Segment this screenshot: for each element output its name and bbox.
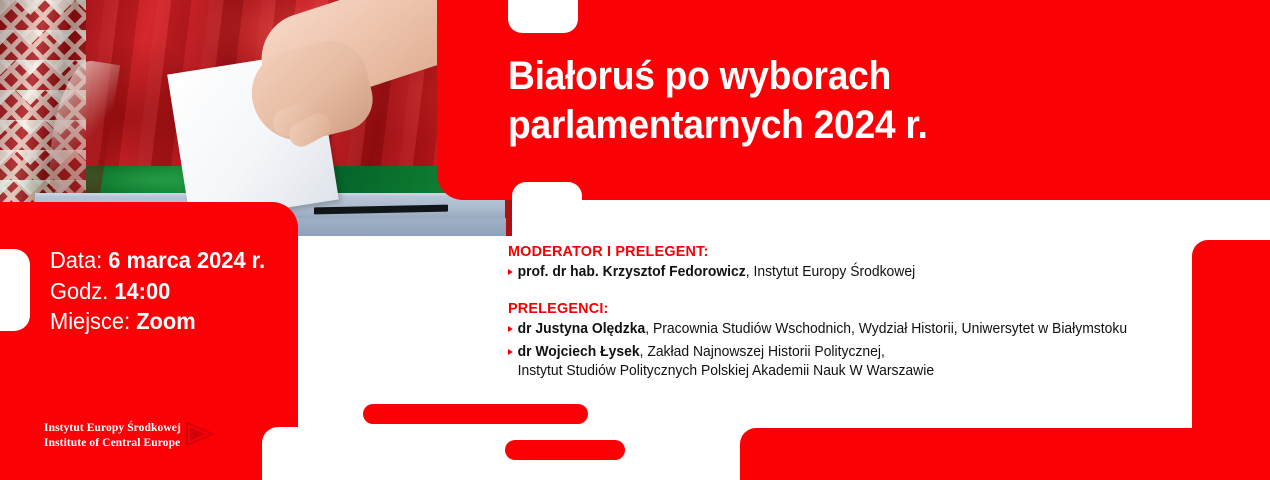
list-item: dr Wojciech Łysek, Zakład Najnowszej His… (508, 343, 1180, 382)
person-affiliation-line-2: Instytut Studiów Politycznych Polskiej A… (518, 363, 934, 379)
person-entry: dr Wojciech Łysek, Zakład Najnowszej His… (518, 343, 934, 382)
event-place-label: Miejsce: (50, 308, 130, 334)
decor-pill-bar-upper (363, 404, 588, 424)
institute-logo-text: Instytut Europy Środkowej Institute of C… (44, 421, 181, 449)
event-title-line-2: parlamentarnych 2024 r. (508, 101, 1159, 150)
decor-block-right (1192, 240, 1270, 440)
title-panel-notch-top (508, 0, 578, 33)
person-name: prof. dr hab. Krzysztof Fedorowicz (518, 264, 746, 280)
speakers-block: MODERATOR I PRELEGENT: prof. dr hab. Krz… (508, 243, 1180, 384)
event-details: Data: 6 marca 2024 r. Godz. 14:00 Miejsc… (50, 245, 265, 337)
event-time-row: Godz. 14:00 (50, 276, 265, 307)
triangle-play-mark-icon (186, 422, 214, 451)
triangle-bullet-icon (508, 326, 513, 332)
person-affiliation: , Pracownia Studiów Wschodnich, Wydział … (645, 321, 1127, 337)
event-date-value: 6 marca 2024 r. (108, 247, 265, 273)
person-entry: dr Justyna Olędzka, Pracownia Studiów Ws… (518, 320, 1127, 339)
list-item: prof. dr hab. Krzysztof Fedorowicz, Inst… (508, 263, 1180, 282)
institute-logo: Instytut Europy Środkowej Institute of C… (44, 420, 214, 451)
moderator-heading: MODERATOR I PRELEGENT: (508, 243, 1180, 260)
decor-bar-bottom-right (740, 428, 1270, 480)
event-date-label: Data: (50, 247, 102, 273)
event-time-value: 14:00 (114, 278, 170, 304)
institute-logo-line-en: Institute of Central Europe (44, 436, 181, 450)
event-time-label: Godz. (50, 278, 108, 304)
triangle-bullet-icon (508, 349, 513, 355)
speakers-heading: PRELEGENCI: (508, 300, 1180, 317)
list-item: dr Justyna Olędzka, Pracownia Studiów Ws… (508, 320, 1180, 339)
triangle-bullet-icon (508, 269, 513, 275)
decor-pill-bar-lower (505, 440, 625, 460)
event-title: Białoruś po wyborach parlamentarnych 202… (508, 52, 1159, 150)
details-panel-notch-bottom-right (262, 427, 322, 480)
details-panel-notch-left (0, 249, 30, 331)
event-title-line-1: Białoruś po wyborach (508, 52, 1159, 101)
person-name: dr Justyna Olędzka (518, 321, 646, 337)
poster-canvas: Białoruś po wyborach parlamentarnych 202… (0, 0, 1270, 480)
title-panel-notch-bottom (512, 182, 582, 242)
event-place-row: Miejsce: Zoom (50, 306, 265, 337)
institute-logo-line-pl: Instytut Europy Środkowej (44, 421, 181, 435)
belarus-flag-ballot-photo (0, 0, 512, 236)
event-date-row: Data: 6 marca 2024 r. (50, 245, 265, 276)
event-place-value: Zoom (136, 308, 195, 334)
person-affiliation: , Instytut Europy Środkowej (746, 264, 915, 280)
person-affiliation: , Zakład Najnowszej Historii Politycznej… (640, 344, 885, 360)
person-name: dr Wojciech Łysek (518, 344, 640, 360)
person-entry: prof. dr hab. Krzysztof Fedorowicz, Inst… (518, 263, 916, 282)
